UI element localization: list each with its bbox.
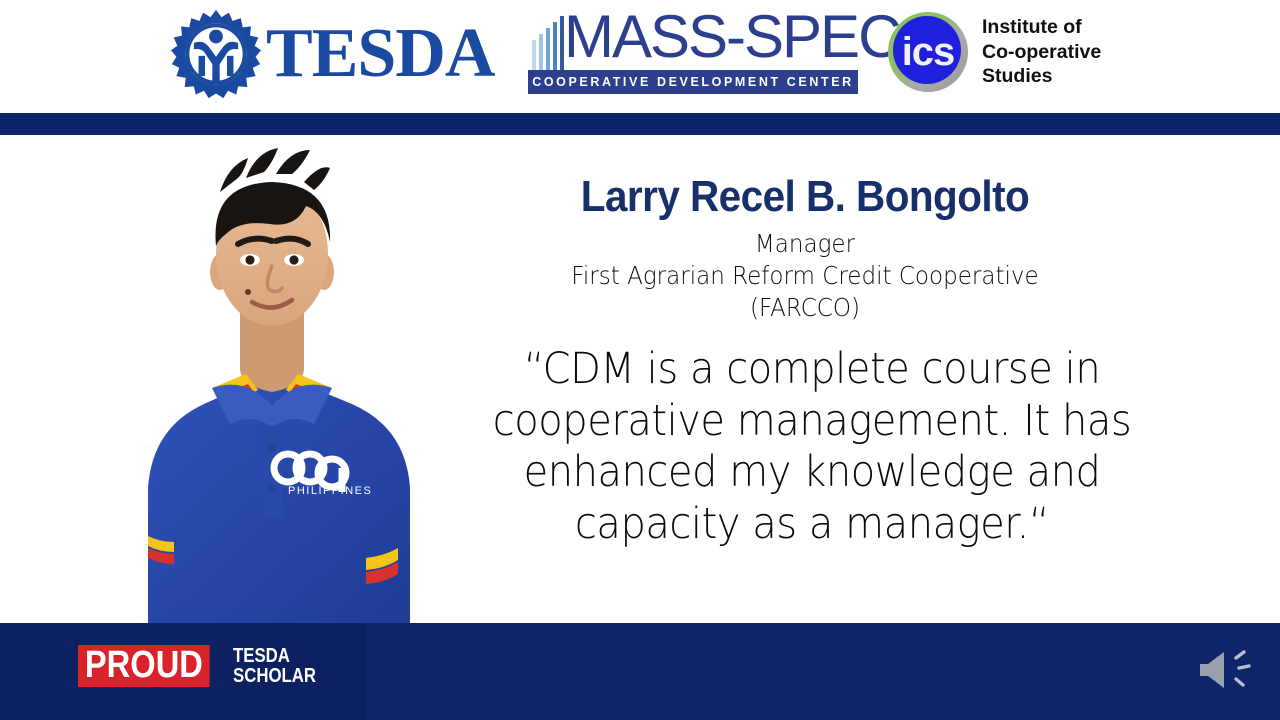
ics-logo: ics Institute of Co-operative Studies bbox=[888, 8, 1178, 96]
scholar-quote: “CDM is a complete course in cooperative… bbox=[459, 344, 1166, 550]
badge-proud-label: PROUD bbox=[78, 645, 210, 687]
scholar-organization: First Agrarian Reform Credit Cooperative bbox=[476, 260, 1134, 292]
footer-tint-panel bbox=[366, 623, 1280, 720]
mass-specc-tagline: COOPERATIVE DEVELOPMENT CENTER bbox=[528, 70, 858, 94]
speaker-icon[interactable] bbox=[1196, 648, 1256, 692]
badge-tesda-scholar-label: TESDA SCHOLAR bbox=[233, 646, 316, 687]
ics-line-2: Co-operative bbox=[982, 40, 1101, 65]
gear-human-icon bbox=[170, 8, 262, 100]
ics-circle-icon: ics bbox=[888, 12, 968, 92]
slide-canvas: TESDA MASS-SPECC COOPERATIVE DEVELOPMENT… bbox=[0, 0, 1280, 720]
svg-text:PHILIPPINES: PHILIPPINES bbox=[288, 485, 372, 497]
ics-line-3: Studies bbox=[982, 64, 1101, 89]
scholar-position: Manager bbox=[476, 228, 1134, 260]
ics-name-text: Institute of Co-operative Studies bbox=[982, 15, 1101, 90]
scholar-role-block: Manager First Agrarian Reform Credit Coo… bbox=[476, 228, 1134, 324]
tesda-logo: TESDA bbox=[170, 6, 490, 102]
ics-line-1: Institute of bbox=[982, 15, 1101, 40]
badge-line-tesda: TESDA bbox=[233, 646, 316, 666]
ics-monogram: ics bbox=[888, 12, 968, 92]
badge-line-scholar: SCHOLAR bbox=[233, 666, 316, 686]
proud-tesda-scholar-badge: PROUD TESDA SCHOLAR bbox=[78, 640, 358, 692]
mass-specc-logo: MASS-SPECC COOPERATIVE DEVELOPMENT CENTE… bbox=[528, 8, 858, 98]
tesda-wordmark: TESDA bbox=[266, 8, 494, 100]
scholar-name: Larry Recel B. Bongolto bbox=[483, 174, 1127, 220]
scholar-portrait-photo: PHILIPPINES bbox=[92, 96, 452, 624]
header-logo-strip: TESDA MASS-SPECC COOPERATIVE DEVELOPMENT… bbox=[0, 0, 1280, 108]
mass-specc-wordmark: MASS-SPECC bbox=[564, 4, 941, 70]
scholar-organization-abbr: (FARCCO) bbox=[476, 292, 1134, 324]
